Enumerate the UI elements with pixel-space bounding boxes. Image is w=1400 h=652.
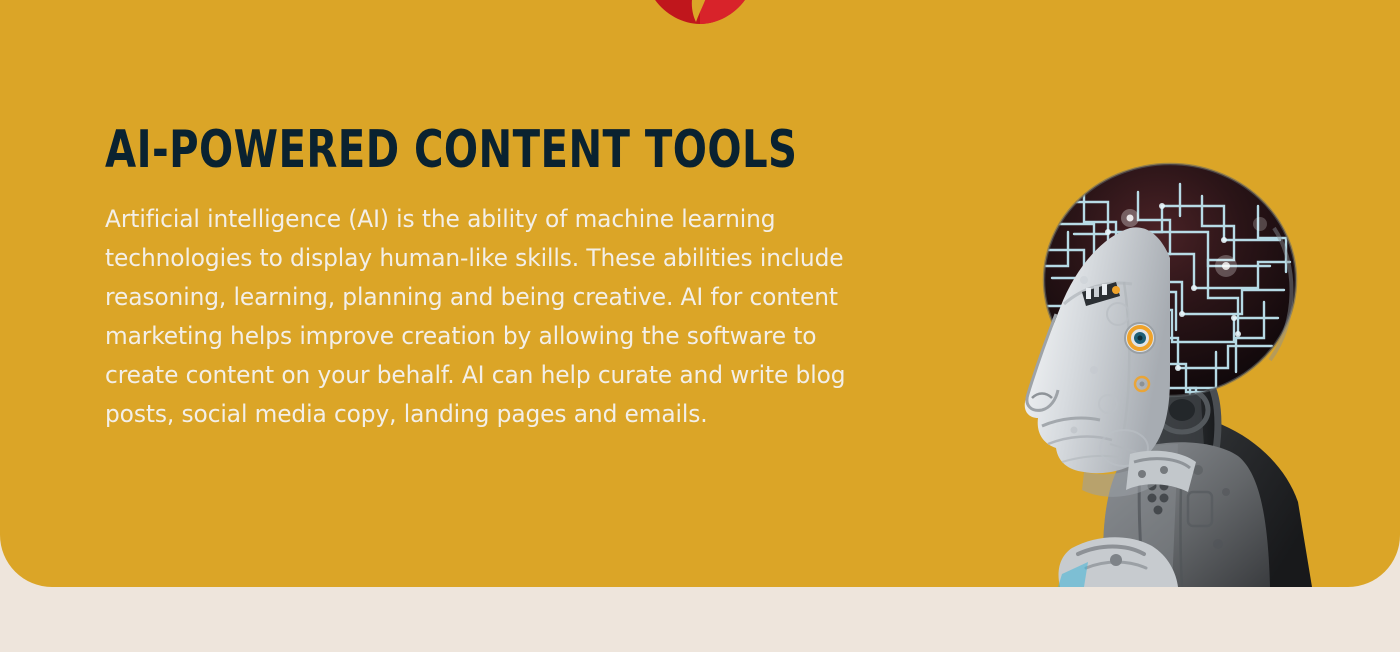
eagle-logo-icon — [640, 0, 760, 26]
page-bottom-strip — [0, 587, 1400, 652]
eagle-logo — [640, 0, 760, 26]
ai-robot-illustration — [1012, 162, 1342, 587]
hero-text-column: AI-POWERED CONTENT TOOLS Artificial inte… — [105, 122, 895, 434]
page-root: AI-POWERED CONTENT TOOLS Artificial inte… — [0, 0, 1400, 652]
page-title: AI-POWERED CONTENT TOOLS — [105, 122, 784, 178]
hero-panel: AI-POWERED CONTENT TOOLS Artificial inte… — [0, 0, 1400, 587]
robot-head-graphic — [1012, 162, 1342, 587]
hero-description: Artificial intelligence (AI) is the abil… — [105, 200, 857, 434]
